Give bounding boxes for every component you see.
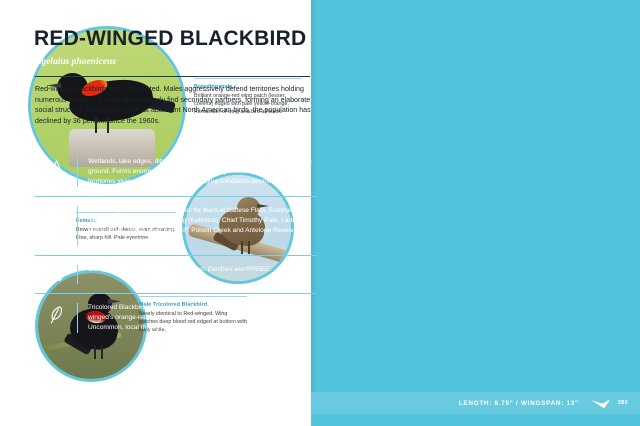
fact-habitat: Wetlands, lake edges, ditches, almost an…	[35, 148, 317, 197]
fact-text: Common year-round resident. Look for the…	[88, 206, 317, 246]
voice-description: Complex bubbling, gurgling, and chatter.	[88, 266, 208, 273]
caption-rule	[194, 78, 302, 79]
measurements-text: LENGTH: 8.75" / WINGSPAN: 13"	[459, 400, 579, 407]
fact-text: Tricolored Blackbird male wing patches d…	[88, 303, 317, 333]
voice-transcription: EerrEerr eerrRRREE.	[208, 266, 271, 273]
fact-divider	[77, 303, 78, 333]
bird-leg	[94, 345, 96, 359]
fact-divider	[77, 157, 78, 187]
footer-base	[311, 414, 640, 426]
page-title: RED-WINGED BLACKBIRD	[34, 28, 314, 50]
fact-divider	[77, 206, 78, 246]
fact-list: Wetlands, lake edges, ditches, almost an…	[35, 148, 317, 342]
fact-similar-species: Tricolored Blackbird male wing patches d…	[35, 294, 317, 342]
scientific-name: Agelaius phoeniceus	[35, 57, 315, 67]
fact-text: Wetlands, lake edges, ditches, almost an…	[88, 157, 317, 187]
species-description: Red-winged Blackbirds are complicated. M…	[35, 84, 312, 126]
title-divider	[35, 76, 310, 77]
bird-silhouette-icon	[591, 398, 611, 409]
tree-icon	[35, 157, 77, 178]
field-guide-spread: Breeding male. Brilliant orange-red wing…	[0, 0, 640, 426]
right-info-page	[311, 0, 640, 426]
map-pin-icon	[35, 206, 77, 228]
fact-text: Complex bubbling, gurgling, and chatter.…	[88, 265, 317, 275]
page-number: 285	[618, 400, 628, 406]
bird-leg	[101, 345, 103, 359]
fact-voice: Complex bubbling, gurgling, and chatter.…	[35, 256, 317, 294]
music-note-icon	[35, 265, 77, 284]
fact-divider	[77, 265, 78, 284]
feather-icon	[35, 303, 77, 325]
fact-where-to-find: Common year-round resident. Look for the…	[35, 197, 317, 256]
footer-bar: LENGTH: 8.75" / WINGSPAN: 13" 285	[311, 392, 640, 414]
